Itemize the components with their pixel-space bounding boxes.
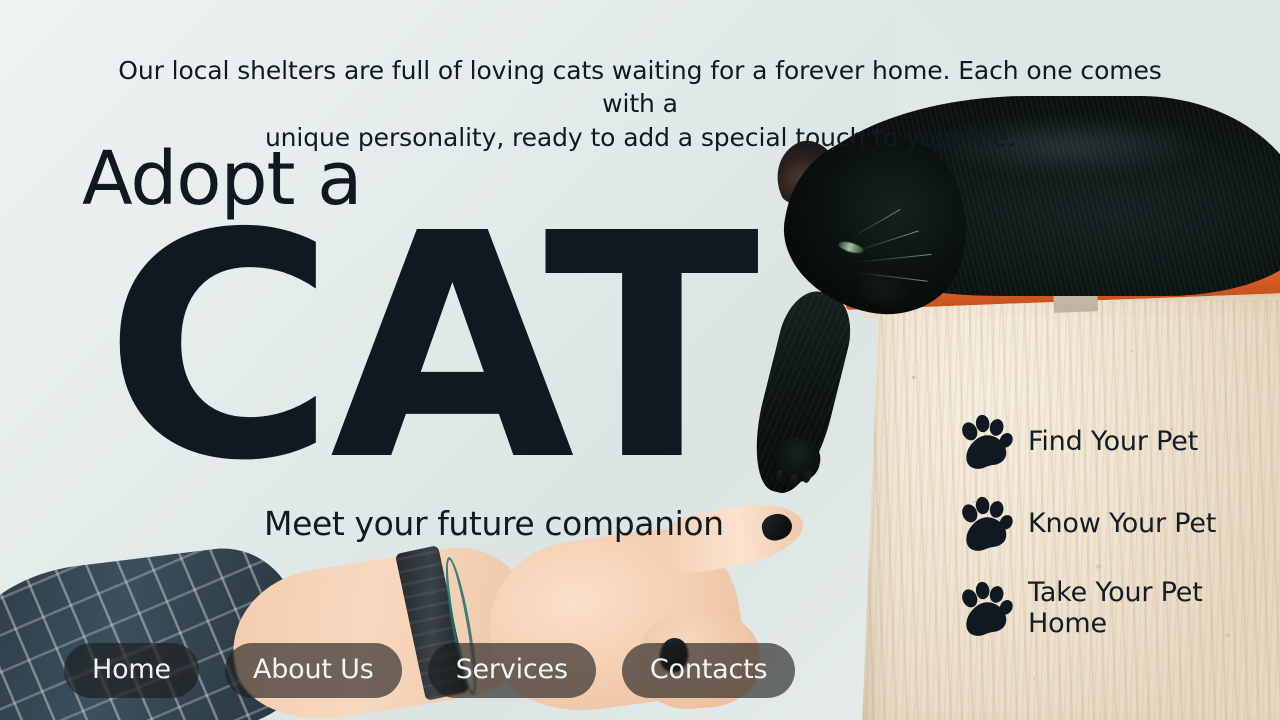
- paw-print-icon: [958, 414, 1014, 470]
- feature-list: Find Your Pet Know Your Pet Take Your Pe…: [958, 414, 1258, 640]
- feature-item[interactable]: Take Your Pet Home: [958, 578, 1258, 640]
- feature-label: Find Your Pet: [1028, 427, 1198, 458]
- page-title: CAT: [104, 224, 864, 474]
- feature-label: Know Your Pet: [1028, 509, 1216, 540]
- feature-label: Take Your Pet Home: [1028, 578, 1258, 640]
- nav-item-services[interactable]: Services: [428, 643, 596, 698]
- feature-item[interactable]: Find Your Pet: [958, 414, 1258, 470]
- eyebrow-heading: Adopt a: [82, 142, 361, 216]
- nav-item-about-us[interactable]: About Us: [225, 643, 402, 698]
- nav-item-contacts[interactable]: Contacts: [622, 643, 796, 698]
- main-nav: Home About Us Services Contacts: [64, 643, 795, 698]
- headline-container: CAT: [104, 224, 864, 480]
- hero-slide: Our local shelters are full of loving ca…: [0, 0, 1280, 720]
- paw-print-icon: [958, 581, 1014, 637]
- feature-item[interactable]: Know Your Pet: [958, 496, 1258, 552]
- tagline: Meet your future companion: [264, 506, 724, 542]
- nav-item-home[interactable]: Home: [64, 643, 199, 698]
- paw-print-icon: [958, 496, 1014, 552]
